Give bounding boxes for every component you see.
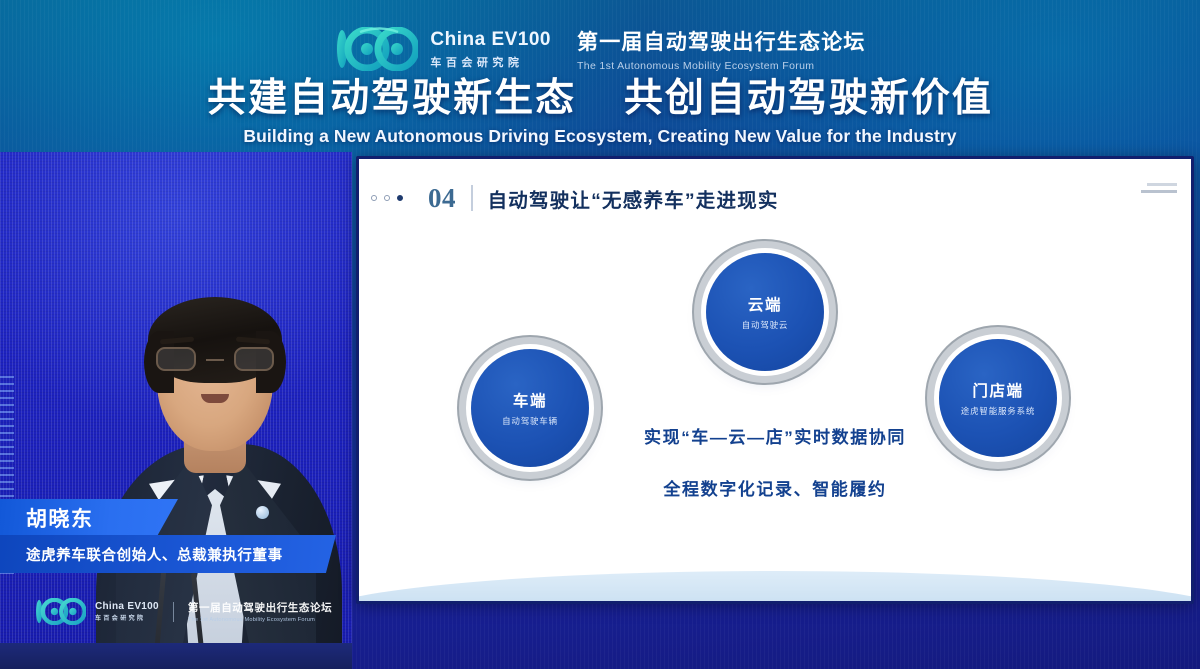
podium-brand-cn: 车百会研究院 <box>95 613 159 622</box>
node-vehicle-title: 车端 <box>513 389 547 411</box>
podium-brand-text: China EV100 车百会研究院 <box>95 601 159 622</box>
presentation-slide-frame: 04 自动驾驶让“无感养车”走进现实 云端 自动驾驶云 车端 自动驾驶车辆 门店… <box>356 156 1194 604</box>
slide-dot-indicator <box>371 195 403 201</box>
diagram-node-cloud: 云端 自动驾驶云 <box>706 253 824 371</box>
event-main-title: 共建自动驾驶新生态 共创自动驾驶新价值 Building a New Auton… <box>0 78 1200 147</box>
podium-forum-text: 第一届自动驾驶出行生态论坛 The 1st Autonomous Mobilit… <box>188 600 332 623</box>
node-store-subtitle: 途虎智能服务系统 <box>961 405 1035 417</box>
podium-band <box>0 643 352 669</box>
podium-forum-cn: 第一届自动驾驶出行生态论坛 <box>188 600 332 615</box>
podium-forum-en: The 1st Autonomous Mobility Ecosystem Fo… <box>188 617 332 623</box>
podium-brand-lockup: China EV100 车百会研究院 第一届自动驾驶出行生态论坛 The 1st… <box>34 598 332 625</box>
brand-name-cn: 车百会研究院 <box>430 54 523 70</box>
slide-corner-marks <box>1141 183 1177 193</box>
lapel-pin-icon <box>256 506 269 519</box>
slide-title-divider <box>471 185 473 211</box>
brand-lockup: China EV100 车百会研究院 <box>334 27 551 71</box>
slide-title: 自动驾驶让“无感养车”走进现实 <box>488 184 779 213</box>
header-logo-bar: China EV100 车百会研究院 第一届自动驾驶出行生态论坛 The 1st… <box>0 22 1200 76</box>
node-cloud-subtitle: 自动驾驶云 <box>742 319 789 331</box>
slide-dot-3-active <box>397 195 403 201</box>
brand-text: China EV100 车百会研究院 <box>430 29 551 70</box>
main-title-cn-part-b: 共创自动驾驶新价值 <box>624 77 993 120</box>
main-title-cn: 共建自动驾驶新生态 共创自动驾驶新价值 <box>0 78 1200 120</box>
forum-title-group: 第一届自动驾驶出行生态论坛 The 1st Autonomous Mobilit… <box>577 26 866 72</box>
slide-dot-2 <box>384 195 390 201</box>
forum-title-cn: 第一届自动驾驶出行生态论坛 <box>577 26 866 56</box>
presentation-slide: 04 自动驾驶让“无感养车”走进现实 云端 自动驾驶云 车端 自动驾驶车辆 门店… <box>359 159 1191 601</box>
speaker-name: 胡晓东 <box>26 503 94 533</box>
slide-captions: 实现“车—云—店”实时数据协同 全程数字化记录、智能履约 <box>359 423 1191 500</box>
glasses-bridge <box>206 359 224 361</box>
main-title-en: Building a New Autonomous Driving Ecosys… <box>0 126 1200 147</box>
main-title-cn-part-a: 共建自动驾驶新生态 <box>207 77 576 120</box>
podium-brand-en: China EV100 <box>95 601 159 612</box>
slide-caption-1: 实现“车—云—店”实时数据协同 <box>359 423 1191 448</box>
slide-caption-2: 全程数字化记录、智能履约 <box>359 475 1191 500</box>
glasses-lens-left <box>156 347 196 371</box>
podium-brand-divider <box>173 602 174 622</box>
event-header: China EV100 车百会研究院 第一届自动驾驶出行生态论坛 The 1st… <box>0 0 1200 152</box>
speaker-role-bar: 途虎养车联合创始人、总裁兼执行董事 <box>0 535 336 573</box>
slide-dot-1 <box>371 195 377 201</box>
corner-mark-1 <box>1147 183 1177 186</box>
brand-name-en: China EV100 <box>430 29 551 51</box>
corner-mark-2 <box>1141 190 1177 193</box>
speaker-name-bar: 胡晓东 <box>0 499 178 537</box>
broadcast-frame: China EV100 车百会研究院 第一届自动驾驶出行生态论坛 The 1st… <box>0 0 1200 669</box>
slide-section-number: 04 <box>428 183 456 214</box>
speaker-role: 途虎养车联合创始人、总裁兼执行董事 <box>26 544 283 565</box>
china-ev100-logo-icon <box>334 27 418 71</box>
glasses-lens-right <box>234 347 274 371</box>
forum-title-en: The 1st Autonomous Mobility Ecosystem Fo… <box>577 60 814 72</box>
speaker-video-panel: 胡晓东 途虎养车联合创始人、总裁兼执行董事 <box>0 152 352 669</box>
node-store-title: 门店端 <box>972 379 1023 401</box>
china-ev100-logo-icon <box>34 598 86 625</box>
node-cloud-title: 云端 <box>748 293 782 315</box>
slide-header: 04 自动驾驶让“无感养车”走进现实 <box>359 177 1191 219</box>
